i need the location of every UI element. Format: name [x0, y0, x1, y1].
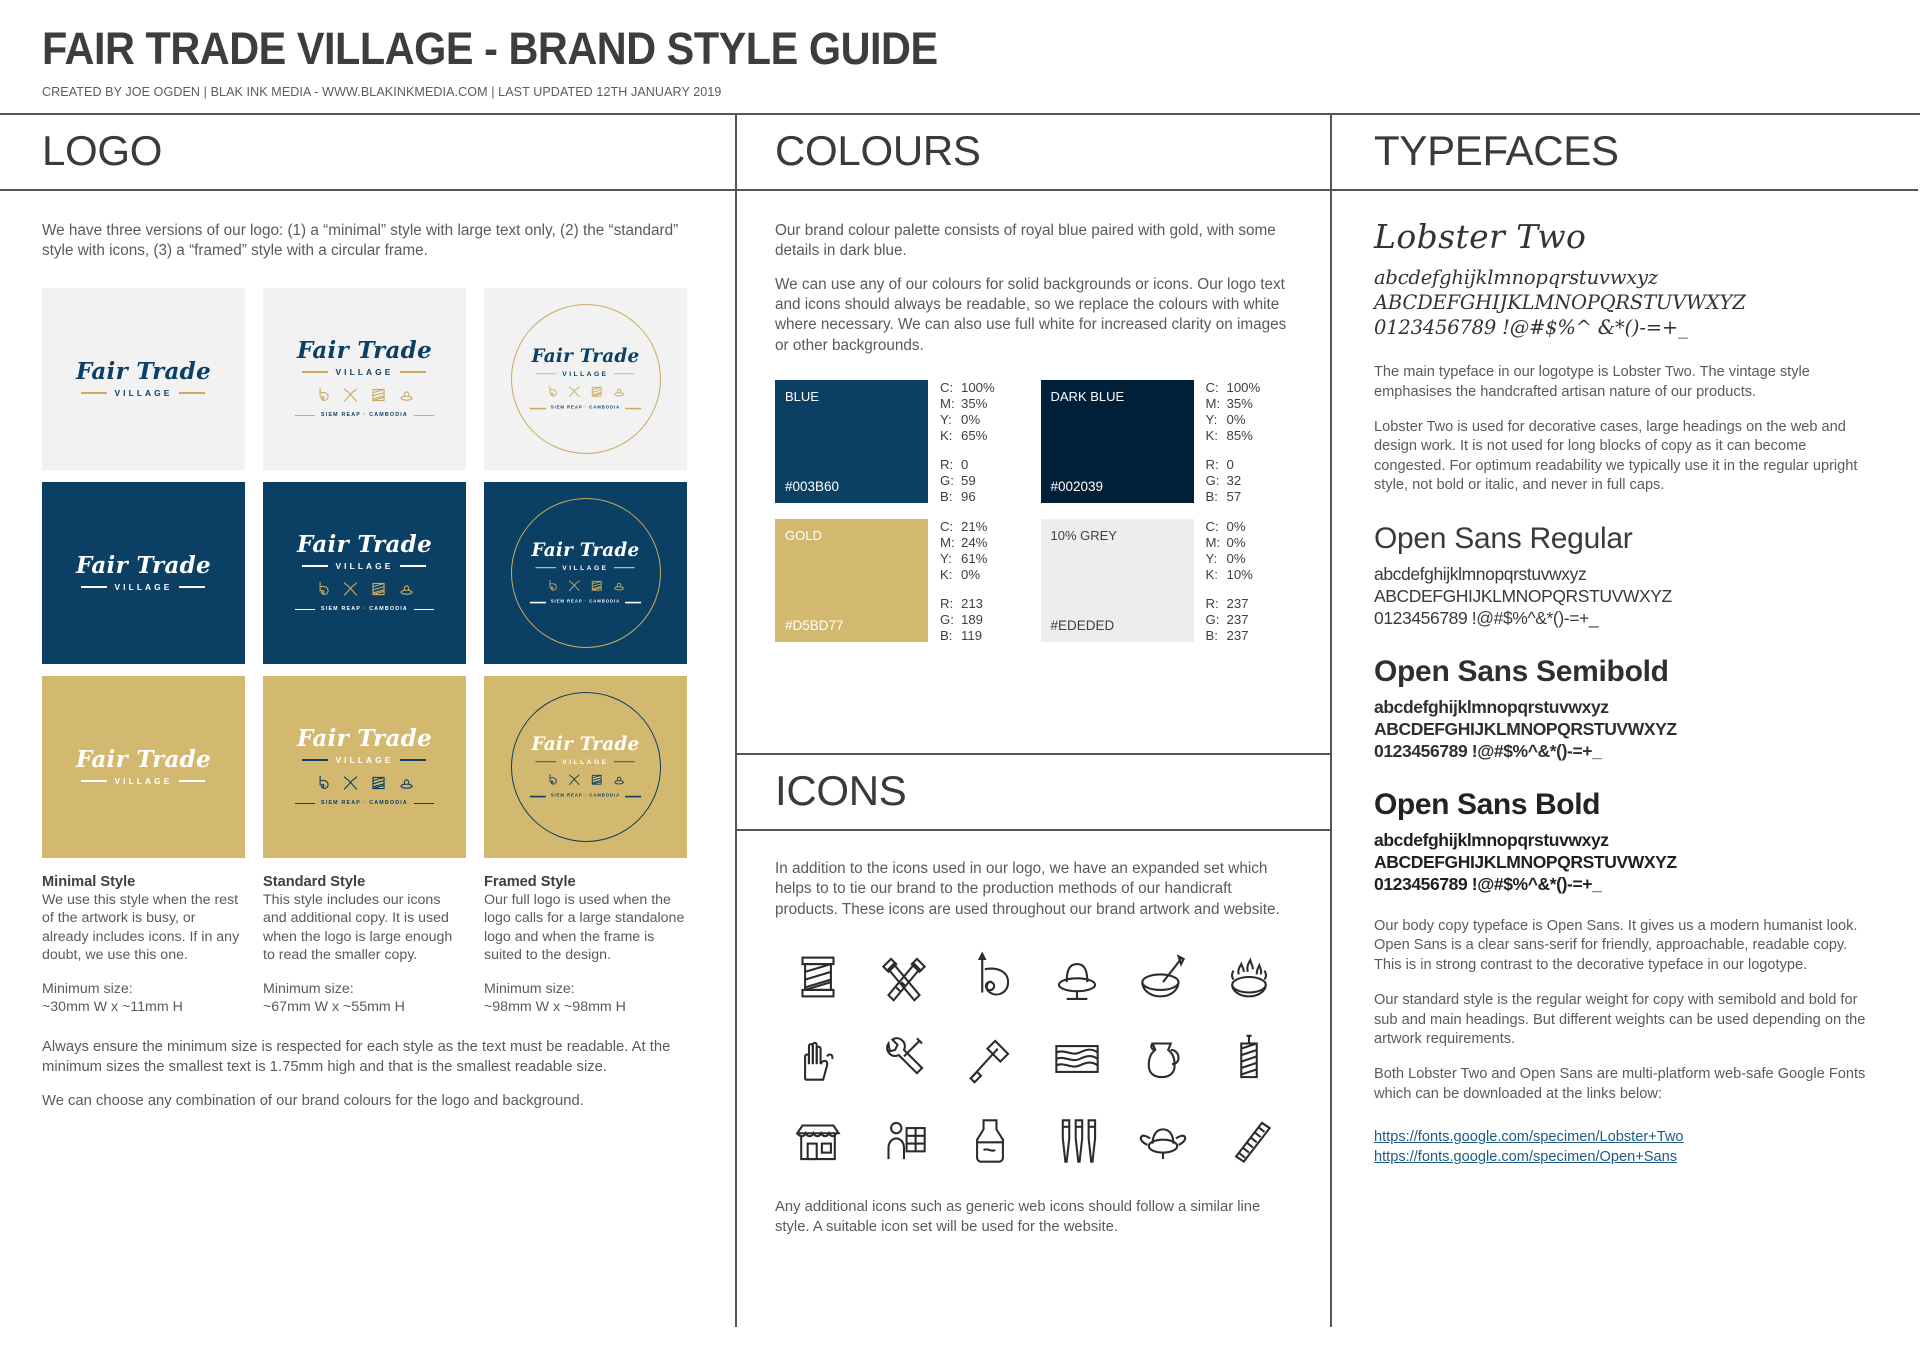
rgb-r: R:0 [940, 457, 995, 473]
thread-spool-icon [589, 578, 604, 594]
val: 0% [961, 567, 980, 583]
open-sans-regular-block: Open Sans Regular abcdefghijklmnopqrstuv… [1374, 522, 1876, 629]
logo-name: Fair Trade [76, 554, 211, 577]
logo-village: VILLAGE [114, 777, 172, 785]
open-sans-semibold-specimen: abcdefghijklmnopqrstuvwxyz ABCDEFGHIJKLM… [1374, 696, 1876, 762]
logo-rule-right [179, 392, 205, 393]
logo-tile-framed-gold: Fair Trade VILLAGE [484, 676, 687, 858]
market-stall-icon [787, 1110, 849, 1172]
hammer-ruler-icon [873, 946, 935, 1008]
open-sans-regular-specimen: abcdefghijklmnopqrstuvwxyz ABCDEFGHIJKLM… [1374, 563, 1876, 629]
key: M: [1206, 535, 1227, 551]
style-title: Minimal Style [42, 874, 245, 890]
logo-rule-left [302, 371, 328, 372]
logo-lockup-standard: Fair Trade VILLAGE [295, 727, 434, 807]
hand-pot-icon [1132, 1110, 1194, 1172]
logo-column: LOGO We have three versions of our logo:… [0, 115, 735, 1327]
style-title: Standard Style [263, 874, 466, 890]
logo-name: Fair Trade [76, 748, 211, 771]
logo-village: VILLAGE [562, 370, 608, 377]
key: G: [940, 473, 961, 489]
logo-rule-left [536, 761, 557, 762]
logo-tagline-row: SIEM REAP · CAMBODIA [530, 600, 641, 604]
swatch-values: C:100% M:35% Y:0% K:85% R:0 G:32 B:57 [1206, 380, 1261, 505]
logo-heading: LOGO [42, 115, 693, 189]
val: 0% [1227, 535, 1246, 551]
key: C: [1206, 380, 1227, 396]
open-sans-link[interactable]: https://fonts.google.com/specimen/Open+S… [1374, 1148, 1876, 1168]
wood-grain-icon [1046, 1028, 1108, 1090]
key: R: [940, 596, 961, 612]
logo-tag-rule-left [530, 408, 546, 409]
logo-village-row: VILLAGE [530, 758, 641, 765]
logo-tagline: SIEM REAP · CAMBODIA [321, 801, 408, 806]
logo-rule-left [536, 567, 557, 568]
colours-intro-2: We can use any of our colours for solid … [775, 275, 1292, 356]
logo-lockup-inner: Fair Trade VILLAGE [530, 347, 641, 411]
logo-name: Fair Trade [295, 339, 434, 362]
cmyk-m: M:24% [940, 535, 987, 551]
pottery-wheel-icon [397, 773, 416, 793]
logo-tag-rule-left [295, 803, 315, 804]
key: K: [1206, 428, 1227, 444]
val: 35% [1227, 396, 1253, 412]
val: 85% [1227, 428, 1253, 444]
page-title: FAIR TRADE VILLAGE - BRAND STYLE GUIDE [42, 26, 1731, 71]
logo-icon-row [295, 773, 434, 793]
uppercase: ABCDEFGHIJKLMNOPQRSTUVWXYZ [1374, 718, 1876, 740]
logo-village-row: VILLAGE [76, 583, 211, 591]
brushes-icon [1046, 1110, 1108, 1172]
thread-spool-icon [589, 384, 604, 400]
logo-tile-standard-grey: Fair Trade VILLAGE [263, 288, 466, 470]
cmyk-k: K:65% [940, 428, 995, 444]
logo-tag-rule-right [625, 408, 641, 409]
swatch-box: DARK BLUE #002039 [1041, 380, 1194, 503]
open-sans-note-3: Both Lobster Two and Open Sans are multi… [1374, 1065, 1876, 1104]
swatch-grey: 10% GREY #EDEDED C:0% M:0% Y:0% K:10% R:… [1041, 519, 1293, 644]
logo-content: We have three versions of our logo: (1) … [0, 191, 735, 1112]
lowercase: abcdefghijklmnopqrstuvwxyz [1374, 563, 1876, 585]
uppercase: ABCDEFGHIJKLMNOPQRSTUVWXYZ [1374, 585, 1876, 607]
icons-heading: ICONS [775, 755, 1292, 829]
cmyk-y: Y:0% [940, 412, 995, 428]
key: C: [1206, 519, 1227, 535]
logo-rule-left [302, 565, 328, 566]
logo-lockup-framed: Fair Trade VILLAGE [511, 498, 661, 648]
swatch-box: GOLD #D5BD77 [775, 519, 928, 642]
swatch-values: C:21% M:24% Y:61% K:0% R:213 G:189 B:119 [940, 519, 987, 644]
min-size-value: ~98mm W x ~98mm H [484, 998, 687, 1016]
val: 100% [1227, 380, 1261, 396]
logo-tagline: SIEM REAP · CAMBODIA [551, 406, 621, 410]
logo-footer-2: We can choose any combination of our bra… [42, 1092, 693, 1112]
hammer-ruler-icon [341, 385, 360, 405]
val: 237 [1227, 628, 1249, 644]
lowercase: abcdefghijklmnopqrstuvwxyz [1374, 696, 1876, 718]
logo-lockup-standard: Fair Trade VILLAGE [295, 533, 434, 613]
logo-tagline: SIEM REAP · CAMBODIA [551, 600, 621, 604]
key: Y: [940, 551, 961, 567]
digits: 0123456789 !@#$%^&*()-=+_ [1374, 873, 1876, 895]
open-sans-note-1: Our body copy typeface is Open Sans. It … [1374, 917, 1876, 975]
swatch-values: C:100% M:35% Y:0% K:65% R:0 G:59 B:96 [940, 380, 995, 505]
rgb-r: R:0 [1206, 457, 1261, 473]
colours-content: Our brand colour palette consists of roy… [737, 191, 1330, 644]
logo-lockup-standard: Fair Trade VILLAGE [295, 339, 434, 419]
key: B: [1206, 628, 1227, 644]
logo-lockup-framed: Fair Trade VILLAGE [511, 304, 661, 454]
rgb-b: B:119 [940, 628, 987, 644]
logo-lockup-inner: Fair Trade VILLAGE [530, 735, 641, 799]
needle-thread-icon [313, 773, 332, 793]
logo-style-minimal: Minimal Style We use this style when the… [42, 874, 245, 1017]
thread-spool-icon [369, 385, 388, 405]
cmyk-c: C:100% [1206, 380, 1261, 396]
logo-tile-minimal-grey: Fair Trade VILLAGE [42, 288, 245, 470]
rgb-group: R:0 G:32 B:57 [1206, 457, 1261, 505]
swatch-name: 10% GREY [1051, 528, 1117, 543]
columns-container: LOGO We have three versions of our logo:… [0, 115, 1920, 1327]
swatch-hex: #D5BD77 [785, 618, 844, 633]
open-sans-bold-block: Open Sans Bold abcdefghijklmnopqrstuvwxy… [1374, 788, 1876, 895]
swatch-hex: #EDEDED [1051, 618, 1115, 633]
logo-tagline-row: SIEM REAP · CAMBODIA [295, 413, 434, 418]
key: B: [1206, 489, 1227, 505]
hammer-ruler-icon [567, 384, 582, 400]
logo-tile-framed-grey: Fair Trade VILLAGE [484, 288, 687, 470]
key: M: [940, 535, 961, 551]
rolled-mat-icon [1218, 1110, 1280, 1172]
open-sans-note-2: Our standard style is the regular weight… [1374, 991, 1876, 1049]
logo-tag-rule-right [414, 803, 434, 804]
logo-name: Fair Trade [530, 347, 641, 365]
pottery-wheel-icon [397, 385, 416, 405]
icons-footer: Any additional icons such as generic web… [775, 1198, 1292, 1238]
style-min-size: Minimum size: ~98mm W x ~98mm H [484, 980, 687, 1017]
lobster-two-link[interactable]: https://fonts.google.com/specimen/Lobste… [1374, 1128, 1876, 1148]
logo-village: VILLAGE [335, 562, 393, 570]
logo-village: VILLAGE [114, 583, 172, 591]
cmyk-k: K:10% [1206, 567, 1253, 583]
logo-icon-row [530, 578, 641, 594]
colours-intro: Our brand colour palette consists of roy… [775, 191, 1292, 356]
key: C: [940, 519, 961, 535]
logo-village-row: VILLAGE [530, 564, 641, 571]
logo-tile-standard-blue: Fair Trade VILLAGE [263, 482, 466, 664]
needle-thread-icon [544, 384, 559, 400]
key: Y: [940, 412, 961, 428]
swatch-hex: #002039 [1051, 479, 1104, 494]
rgb-g: G:237 [1206, 612, 1253, 628]
rgb-group: R:237 G:237 B:237 [1206, 596, 1253, 644]
colours-heading: COLOURS [775, 115, 1292, 189]
logo-tag-rule-left [295, 609, 315, 610]
logo-tagline-row: SIEM REAP · CAMBODIA [295, 801, 434, 806]
logo-tagline-row: SIEM REAP · CAMBODIA [295, 607, 434, 612]
style-body: This style includes our icons and additi… [263, 891, 466, 965]
logo-tile-framed-blue: Fair Trade VILLAGE [484, 482, 687, 664]
val: 119 [961, 628, 982, 644]
logo-rule-right [179, 780, 205, 781]
logo-name: Fair Trade [295, 727, 434, 750]
rgb-b: B:237 [1206, 628, 1253, 644]
swatch-dark-blue: DARK BLUE #002039 C:100% M:35% Y:0% K:85… [1041, 380, 1293, 505]
cmyk-k: K:85% [1206, 428, 1261, 444]
needle-thread-icon [313, 579, 332, 599]
logo-intro-text: We have three versions of our logo: (1) … [42, 191, 693, 262]
key: K: [940, 567, 961, 583]
pottery-wheel-icon [611, 384, 626, 400]
logo-footer-notes: Always ensure the minimum size is respec… [42, 1038, 693, 1112]
val: 189 [961, 612, 983, 628]
min-size-label: Minimum size: [484, 980, 687, 998]
digits: 0123456789 !@#$%^&*()-=+_ [1374, 607, 1876, 629]
style-title: Framed Style [484, 874, 687, 890]
loom-icon [1218, 1028, 1280, 1090]
pottery-wheel-icon [611, 578, 626, 594]
logo-rule-left [302, 759, 328, 760]
needle-thread-icon [313, 385, 332, 405]
logo-tagline: SIEM REAP · CAMBODIA [321, 413, 408, 418]
cmyk-m: M:0% [1206, 535, 1253, 551]
kiln-fire-icon [1218, 946, 1280, 1008]
logo-tag-rule-right [625, 602, 641, 603]
font-links: https://fonts.google.com/specimen/Lobste… [1374, 1128, 1876, 1168]
logo-lockup-inner: Fair Trade VILLAGE [530, 541, 641, 605]
lowercase: abcdefghijklmnopqrstuvwxyz [1374, 829, 1876, 851]
cmyk-y: Y:0% [1206, 412, 1261, 428]
key: G: [1206, 473, 1227, 489]
pottery-wheel-icon [1046, 946, 1108, 1008]
min-size-label: Minimum size: [42, 980, 245, 998]
colours-section-header: COLOURS [737, 115, 1330, 191]
val: 0% [961, 412, 980, 428]
swatch-gold: GOLD #D5BD77 C:21% M:24% Y:61% K:0% R:21… [775, 519, 1027, 644]
document-header: FAIR TRADE VILLAGE - BRAND STYLE GUIDE C… [0, 0, 1920, 113]
swatch-box: 10% GREY #EDEDED [1041, 519, 1194, 642]
logo-village-row: VILLAGE [76, 389, 211, 397]
logo-rule-left [81, 780, 107, 781]
key: R: [1206, 596, 1227, 612]
lobster-uppercase: ABCDEFGHIJKLMNOPQRSTUVWXYZ [1374, 291, 1876, 316]
icon-grid [775, 946, 1292, 1172]
style-body: We use this style when the rest of the a… [42, 891, 245, 965]
rgb-group: R:213 G:189 B:119 [940, 596, 987, 644]
logo-village: VILLAGE [335, 368, 393, 376]
digits: 0123456789 !@#$%^&*()-=+_ [1374, 740, 1876, 762]
cmyk-c: C:21% [940, 519, 987, 535]
thread-spool-icon [787, 946, 849, 1008]
page-subtitle: CREATED BY JOE OGDEN | BLAK INK MEDIA - … [42, 84, 1786, 99]
needle-thread-icon [544, 772, 559, 788]
val: 0 [1227, 457, 1234, 473]
middle-column: COLOURS Our brand colour palette consist… [735, 115, 1332, 1327]
pottery-wheel-icon [611, 772, 626, 788]
logo-rule-right [400, 371, 426, 372]
key: R: [940, 457, 961, 473]
logo-rule-right [614, 567, 635, 568]
hammer-ruler-icon [341, 579, 360, 599]
style-body: Our full logo is used when the logo call… [484, 891, 687, 965]
logo-tag-rule-right [414, 609, 434, 610]
logo-tile-standard-gold: Fair Trade VILLAGE [263, 676, 466, 858]
val: 61% [961, 551, 987, 567]
pitcher-icon [1132, 1028, 1194, 1090]
val: 35% [961, 396, 987, 412]
logo-village-row: VILLAGE [530, 370, 641, 377]
logo-village-row: VILLAGE [295, 562, 434, 570]
key: B: [940, 489, 961, 505]
rgb-b: B:57 [1206, 489, 1261, 505]
needle-thread-icon [544, 578, 559, 594]
logo-tagline-row: SIEM REAP · CAMBODIA [530, 794, 641, 798]
val: 237 [1227, 612, 1249, 628]
logo-village-row: VILLAGE [76, 777, 211, 785]
val: 59 [961, 473, 976, 489]
key: B: [940, 628, 961, 644]
val: 24% [961, 535, 987, 551]
hammer-ruler-icon [567, 772, 582, 788]
cmyk-y: Y:0% [1206, 551, 1253, 567]
style-min-size: Minimum size: ~67mm W x ~55mm H [263, 980, 466, 1017]
rgb-r: R:213 [940, 596, 987, 612]
swatch-grid: BLUE #003B60 C:100% M:35% Y:0% K:65% R:0 [775, 380, 1292, 644]
min-size-value: ~67mm W x ~55mm H [263, 998, 466, 1016]
logo-tagline: SIEM REAP · CAMBODIA [551, 794, 621, 798]
key: M: [940, 396, 961, 412]
chisel-mallet-icon [959, 1028, 1021, 1090]
mixing-bowl-icon [1132, 946, 1194, 1008]
logo-icon-row [295, 579, 434, 599]
logo-rule-left [81, 392, 107, 393]
logo-tagline: SIEM REAP · CAMBODIA [321, 607, 408, 612]
logo-rule-left [81, 586, 107, 587]
swatch-blue: BLUE #003B60 C:100% M:35% Y:0% K:65% R:0 [775, 380, 1027, 505]
logo-tag-rule-left [295, 415, 315, 416]
weaver-frame-icon [873, 1110, 935, 1172]
rgb-b: B:96 [940, 489, 995, 505]
logo-lockup-framed: Fair Trade VILLAGE [511, 692, 661, 842]
val: 65% [961, 428, 987, 444]
cmyk-m: M:35% [1206, 396, 1261, 412]
icons-content: In addition to the icons used in our log… [737, 831, 1330, 1238]
cmyk-k: K:0% [940, 567, 987, 583]
gloves-icon [787, 1028, 849, 1090]
logo-rule-right [614, 761, 635, 762]
logo-rule-right [400, 759, 426, 760]
logo-style-framed: Framed Style Our full logo is used when … [484, 874, 687, 1017]
key: K: [1206, 567, 1227, 583]
swatch-name: DARK BLUE [1051, 389, 1125, 404]
key: Y: [1206, 412, 1227, 428]
min-size-value: ~30mm W x ~11mm H [42, 998, 245, 1016]
open-sans-semibold-name: Open Sans Semibold [1374, 655, 1876, 689]
logo-icon-row [295, 385, 434, 405]
open-sans-bold-specimen: abcdefghijklmnopqrstuvwxyz ABCDEFGHIJKLM… [1374, 829, 1876, 895]
typefaces-section-header: TYPEFACES [1332, 115, 1918, 191]
lobster-lowercase: abcdefghijklmnopqrstuvwxyz [1374, 266, 1876, 291]
thread-spool-icon [369, 773, 388, 793]
key: R: [1206, 457, 1227, 473]
key: K: [940, 428, 961, 444]
logo-tile-minimal-blue: Fair Trade VILLAGE [42, 482, 245, 664]
logo-style-standard: Standard Style This style includes our i… [263, 874, 466, 1017]
swatch-values: C:0% M:0% Y:0% K:10% R:237 G:237 B:237 [1206, 519, 1253, 644]
logo-tag-rule-left [530, 602, 546, 603]
style-min-size: Minimum size: ~30mm W x ~11mm H [42, 980, 245, 1017]
lobster-note-2: Lobster Two is used for decorative cases… [1374, 418, 1876, 496]
logo-section-header: LOGO [0, 115, 735, 191]
style-guide-page: FAIR TRADE VILLAGE - BRAND STYLE GUIDE C… [0, 0, 1920, 1358]
typefaces-heading: TYPEFACES [1374, 115, 1876, 189]
key: Y: [1206, 551, 1227, 567]
needle-thread-icon [959, 946, 1021, 1008]
key: G: [940, 612, 961, 628]
logo-name: Fair Trade [530, 541, 641, 559]
logo-icon-row [530, 384, 641, 400]
icons-intro: In addition to the icons used in our log… [775, 831, 1292, 920]
key: M: [1206, 396, 1227, 412]
logo-village: VILLAGE [335, 756, 393, 764]
pottery-wheel-icon [397, 579, 416, 599]
val: 0% [1227, 412, 1246, 428]
logo-tagline-row: SIEM REAP · CAMBODIA [530, 406, 641, 410]
rgb-r: R:237 [1206, 596, 1253, 612]
cmyk-c: C:0% [1206, 519, 1253, 535]
logo-tag-rule-left [530, 796, 546, 797]
val: 21% [961, 519, 987, 535]
key: C: [940, 380, 961, 396]
val: 0% [1227, 519, 1246, 535]
logo-lockup-minimal: Fair Trade VILLAGE [76, 360, 211, 397]
hammer-ruler-icon [341, 773, 360, 793]
logo-style-captions: Minimal Style We use this style when the… [42, 874, 693, 1017]
swatch-hex: #003B60 [785, 479, 839, 494]
logo-name: Fair Trade [76, 360, 211, 383]
logo-rule-right [614, 373, 635, 374]
cmyk-y: Y:61% [940, 551, 987, 567]
val: 237 [1227, 596, 1249, 612]
uppercase: ABCDEFGHIJKLMNOPQRSTUVWXYZ [1374, 851, 1876, 873]
swatch-name: BLUE [785, 389, 819, 404]
open-sans-semibold-block: Open Sans Semibold abcdefghijklmnopqrstu… [1374, 655, 1876, 762]
logo-rule-right [179, 586, 205, 587]
typefaces-content: Lobster Two abcdefghijklmnopqrstuvwxyz A… [1332, 191, 1918, 1168]
val: 0% [1227, 551, 1246, 567]
logo-lockup-minimal: Fair Trade VILLAGE [76, 554, 211, 591]
logo-icon-row [530, 772, 641, 788]
icons-section-header: ICONS [737, 755, 1330, 831]
colours-section: COLOURS Our brand colour palette consist… [737, 115, 1330, 755]
lobster-name: Lobster Two [1374, 219, 1876, 255]
key: G: [1206, 612, 1227, 628]
rgb-g: G:189 [940, 612, 987, 628]
colours-intro-1: Our brand colour palette consists of roy… [775, 221, 1292, 262]
val: 100% [961, 380, 995, 396]
val: 57 [1227, 489, 1242, 505]
rgb-g: G:32 [1206, 473, 1261, 489]
typefaces-column: TYPEFACES Lobster Two abcdefghijklmnopqr… [1332, 115, 1918, 1327]
swatch-box: BLUE #003B60 [775, 380, 928, 503]
wrench-screwdriver-icon [873, 1028, 935, 1090]
thread-spool-icon [369, 579, 388, 599]
logo-village: VILLAGE [562, 564, 608, 571]
logo-tag-rule-right [625, 796, 641, 797]
icons-section: ICONS In addition to the icons used in o… [737, 755, 1330, 1238]
lobster-specimen: abcdefghijklmnopqrstuvwxyz ABCDEFGHIJKLM… [1374, 266, 1876, 341]
logo-lockup-minimal: Fair Trade VILLAGE [76, 748, 211, 785]
